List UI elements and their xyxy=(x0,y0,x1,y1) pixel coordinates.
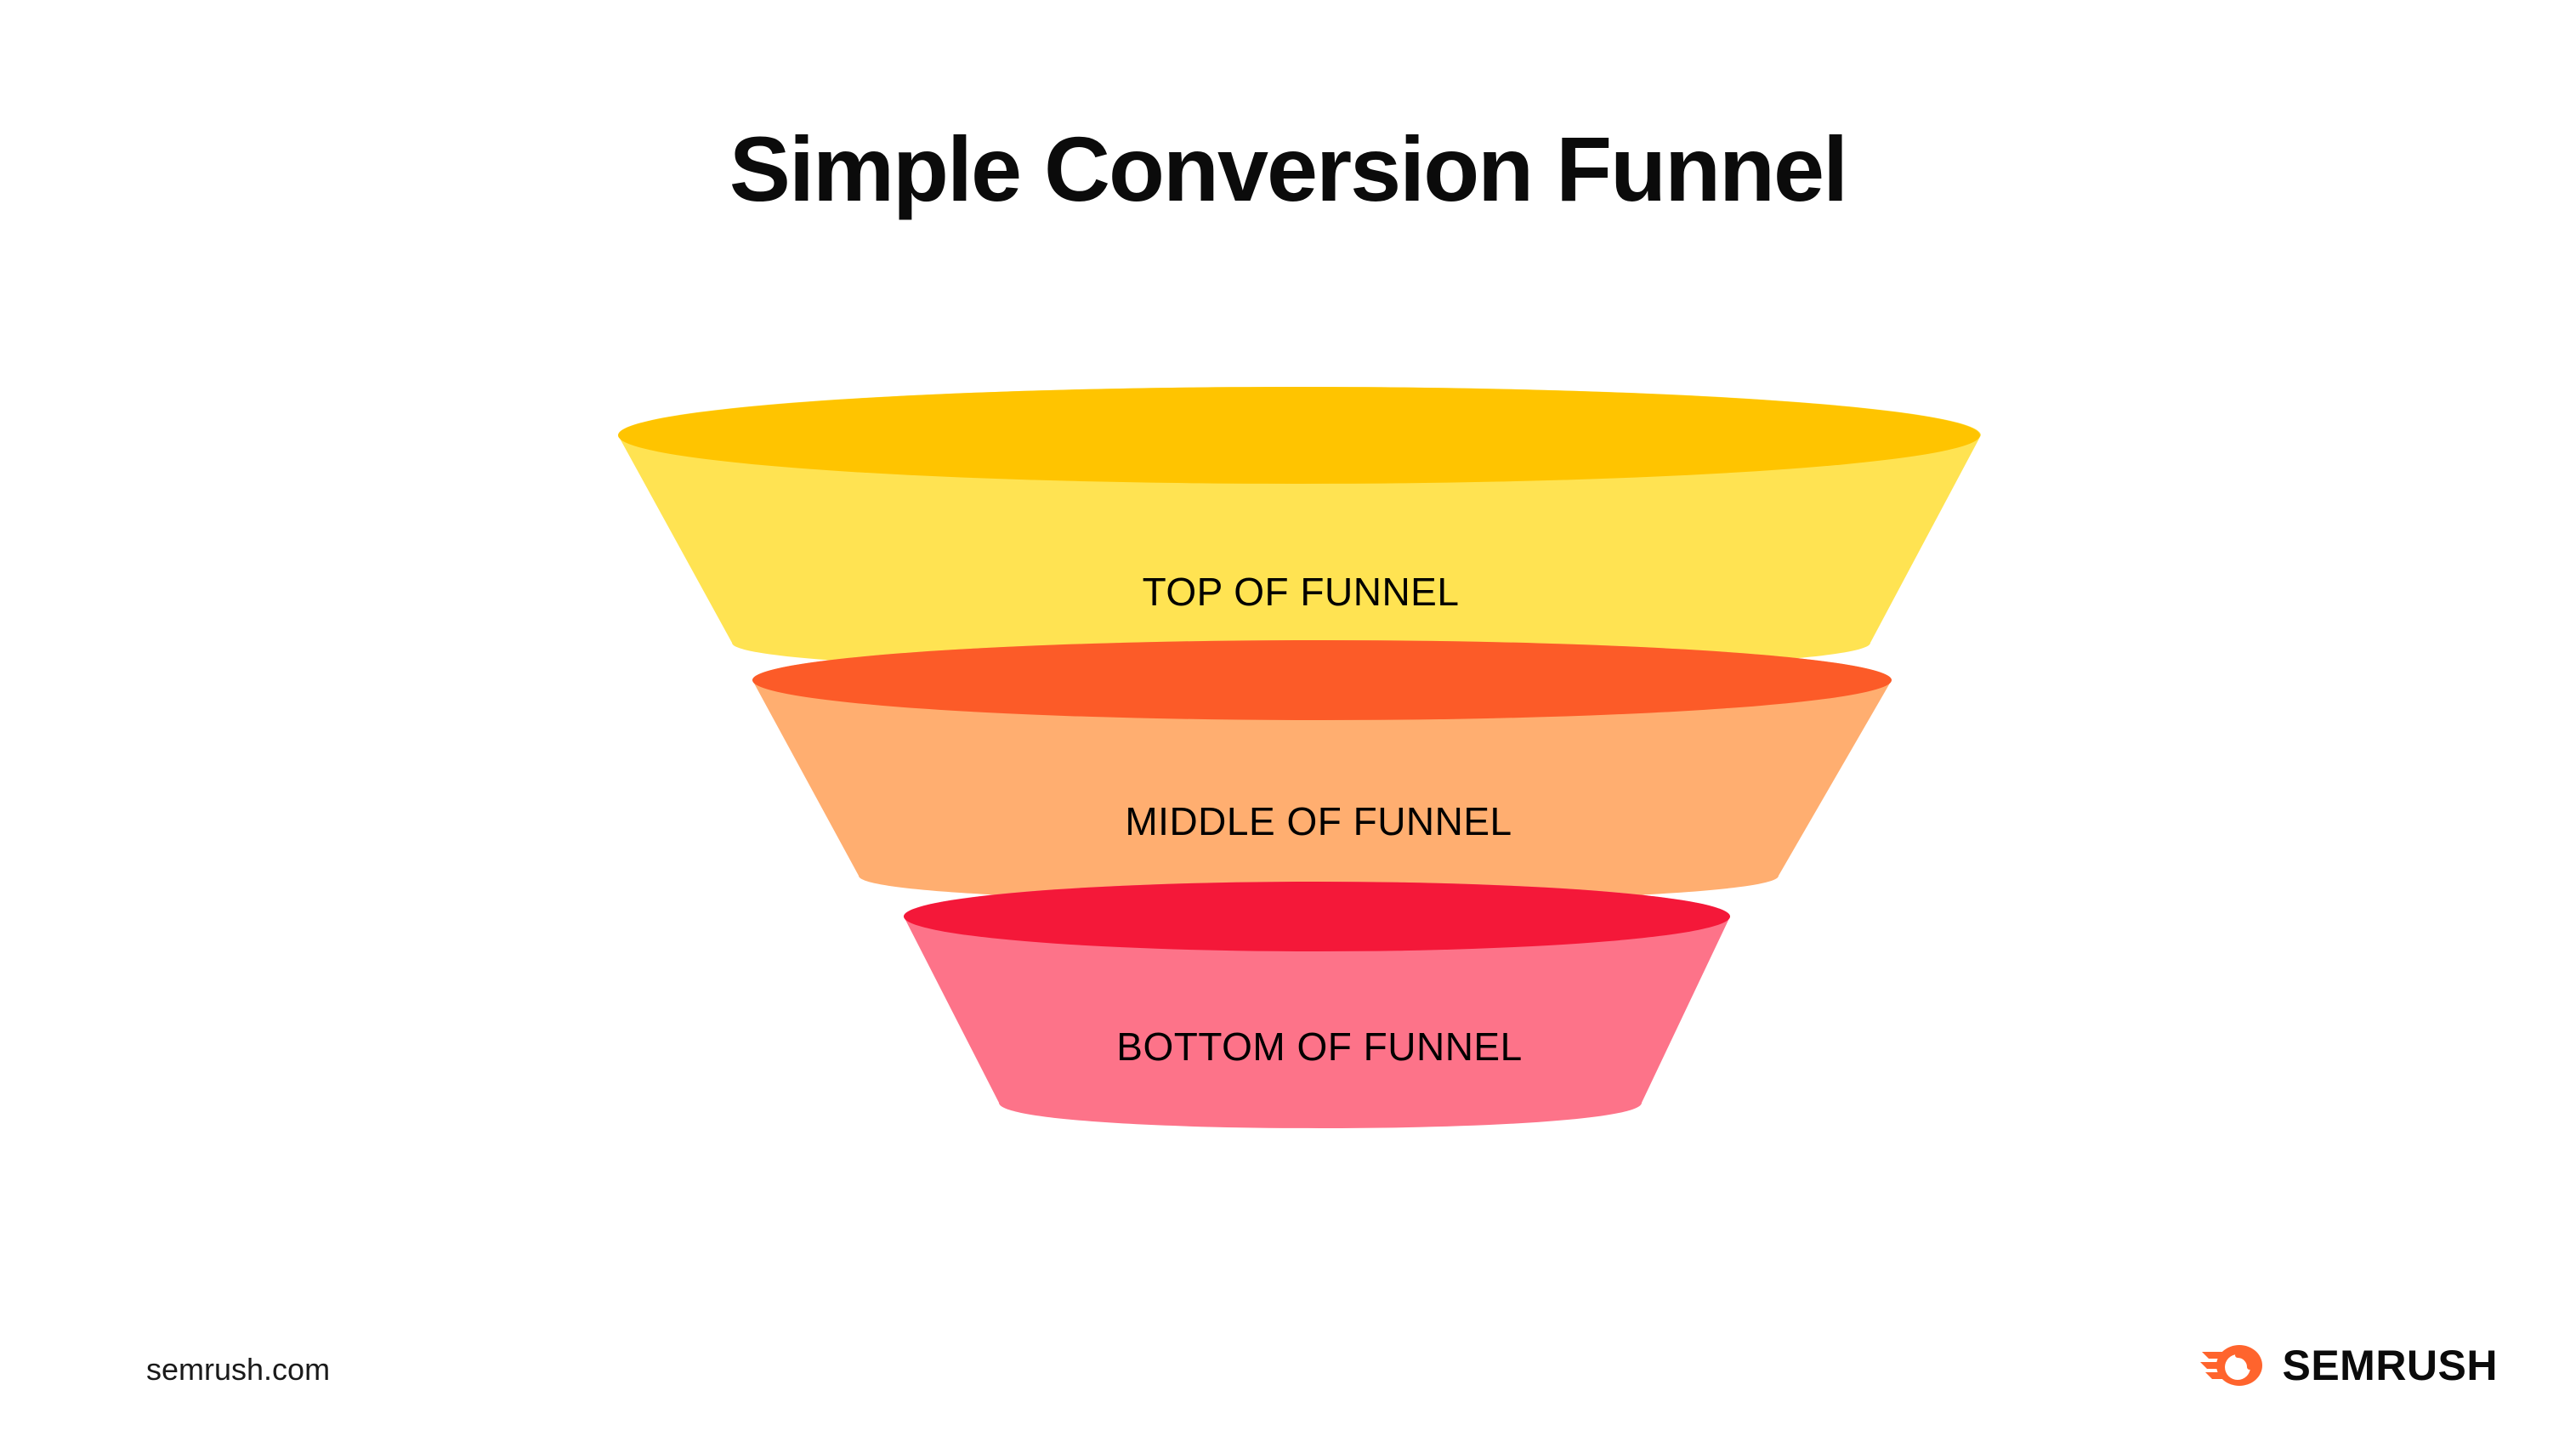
brand-logo: SEMRUSH xyxy=(2200,1342,2498,1389)
funnel-diagram: TOP OF FUNNEL MIDDLE OF FUNNEL BOTTOM OF… xyxy=(0,0,2576,1436)
footer-url: semrush.com xyxy=(146,1352,330,1388)
funnel-stage-bottom-label: BOTTOM OF FUNNEL xyxy=(1116,1024,1522,1069)
funnel-stage-bottom[interactable]: BOTTOM OF FUNNEL xyxy=(904,882,1730,1128)
slide-canvas: Simple Conversion Funnel TOP OF FUNNEL M… xyxy=(0,0,2576,1436)
funnel-stage-bottom-cap xyxy=(904,882,1730,951)
funnel-stage-middle-label: MIDDLE OF FUNNEL xyxy=(1125,799,1512,843)
semrush-comet-icon xyxy=(2200,1342,2267,1389)
funnel-stage-middle[interactable]: MIDDLE OF FUNNEL xyxy=(752,640,1892,901)
funnel-stage-top-label: TOP OF FUNNEL xyxy=(1143,570,1460,614)
funnel-stage-top[interactable]: TOP OF FUNNEL xyxy=(618,387,1981,672)
funnel-svg: TOP OF FUNNEL MIDDLE OF FUNNEL BOTTOM OF… xyxy=(0,0,2576,1436)
funnel-stage-middle-cap xyxy=(752,640,1892,720)
brand-logo-text: SEMRUSH xyxy=(2282,1344,2498,1387)
funnel-stage-top-cap xyxy=(618,387,1980,484)
